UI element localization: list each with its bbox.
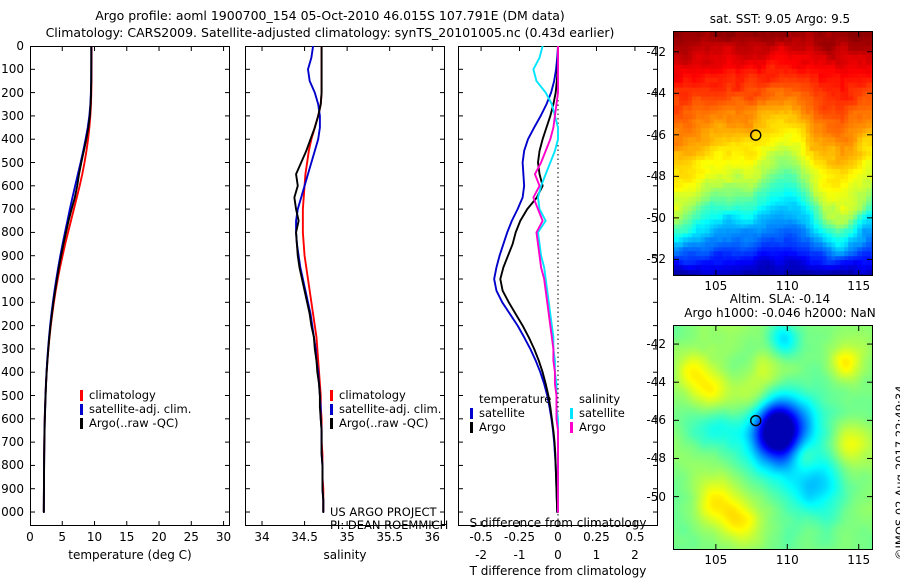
map-lat-tick-label: -46 — [646, 128, 666, 142]
map-lat-tick-label: -42 — [646, 337, 666, 351]
difference-profile-plot — [458, 46, 658, 526]
legend-color-swatch — [80, 390, 83, 401]
map-lat-tick-label: -42 — [646, 45, 666, 59]
axis-tick-label: 0.25 — [583, 530, 610, 544]
axis-tick-label: 10 — [87, 530, 102, 544]
depth-tick-label: 1500 — [0, 389, 24, 403]
temperature-axis-label: temperature (deg C) — [30, 548, 230, 562]
legend-color-swatch — [470, 422, 473, 433]
salinity-profile-plot — [245, 46, 445, 526]
axis-tick-label: 0 — [554, 530, 562, 544]
difference-salinity-axis-label: S difference from climatology — [458, 516, 658, 530]
depth-tick-label: 1600 — [0, 412, 24, 426]
depth-tick-label: 700 — [1, 202, 24, 216]
map-lon-tick-label: 115 — [847, 553, 870, 567]
axis-tick-label: 0 — [26, 530, 34, 544]
depth-tick-label: 1300 — [0, 342, 24, 356]
legend-label: satellite-adj. clim. — [339, 402, 441, 416]
legend-label: satellite — [479, 406, 525, 420]
sla-map-title-line2: Argo h1000: -0.046 h2000: NaN — [660, 306, 900, 320]
map-lat-tick-label: -52 — [646, 252, 666, 266]
legend-heading: temperature — [479, 392, 551, 406]
depth-tick-label: 600 — [1, 179, 24, 193]
project-name: US ARGO PROJECT — [330, 505, 437, 519]
depth-tick-label: 1100 — [0, 295, 24, 309]
depth-tick-label: 1900 — [0, 482, 24, 496]
legend-label: Argo(..raw -QC) — [89, 416, 179, 430]
depth-tick-label: 1700 — [0, 435, 24, 449]
map-lat-tick-label: -50 — [646, 211, 666, 225]
depth-tick-label: 300 — [1, 109, 24, 123]
figure-title-line1: Argo profile: aoml 1900700_154 05-Oct-20… — [0, 8, 660, 23]
depth-tick-label: 0 — [16, 39, 24, 53]
axis-tick-label: 25 — [184, 530, 199, 544]
map-lat-tick-label: -44 — [646, 86, 666, 100]
depth-tick-label: 2000 — [0, 505, 24, 519]
depth-tick-label: 1800 — [0, 458, 24, 472]
legend-color-swatch — [80, 404, 83, 415]
legend-color-swatch — [570, 422, 573, 433]
map-lon-tick-label: 105 — [704, 279, 727, 293]
axis-tick-label: 0 — [554, 548, 562, 562]
legend-color-swatch — [570, 408, 573, 419]
legend-color-swatch — [330, 404, 333, 415]
difference-temperature-axis-label: T difference from climatology — [458, 564, 658, 578]
temperature-profile-plot — [30, 46, 230, 526]
map-lat-tick-label: -48 — [646, 451, 666, 465]
axis-tick-label: 5 — [58, 530, 66, 544]
axis-tick-label: -2 — [475, 548, 487, 562]
axis-tick-label: 35 — [339, 530, 354, 544]
axis-tick-label: 15 — [119, 530, 134, 544]
map-lat-tick-label: -44 — [646, 375, 666, 389]
salinity-axis-label: salinity — [245, 548, 445, 562]
map-lat-tick-label: -50 — [646, 490, 666, 504]
sla-map-title-line1: Altim. SLA: -0.14 — [660, 292, 900, 306]
axis-tick-label: -0.25 — [504, 530, 535, 544]
map-lat-tick-label: -48 — [646, 169, 666, 183]
depth-tick-label: 1400 — [0, 365, 24, 379]
depth-tick-label: 1200 — [0, 319, 24, 333]
axis-tick-label: 34.5 — [291, 530, 318, 544]
axis-tick-label: -0.5 — [469, 530, 492, 544]
map-lon-tick-label: 110 — [776, 279, 799, 293]
legend-label: satellite — [579, 406, 625, 420]
legend-label: Argo(..raw -QC) — [339, 416, 429, 430]
axis-tick-label: 20 — [151, 530, 166, 544]
depth-tick-label: 400 — [1, 132, 24, 146]
project-pi: PI: DEAN ROEMMICH — [330, 518, 448, 532]
legend-label: climatology — [339, 388, 406, 402]
legend-label: Argo — [479, 420, 506, 434]
depth-tick-label: 900 — [1, 249, 24, 263]
map-lon-tick-label: 105 — [704, 553, 727, 567]
depth-tick-label: 1000 — [0, 272, 24, 286]
credit-text: ©IMOS 02-Aug-2017 22:49:34 — [893, 385, 900, 560]
legend-color-swatch — [470, 408, 473, 419]
legend-label: satellite-adj. clim. — [89, 402, 191, 416]
axis-tick-label: 2 — [631, 548, 639, 562]
axis-tick-label: 30 — [216, 530, 231, 544]
legend-label: climatology — [89, 388, 156, 402]
legend-color-swatch — [330, 390, 333, 401]
axis-tick-label: 0.5 — [625, 530, 644, 544]
sla-map-overlay — [673, 325, 873, 550]
axis-tick-label: 34 — [254, 530, 269, 544]
sst-map-overlay — [673, 31, 873, 276]
legend-color-swatch — [330, 418, 333, 429]
map-lon-tick-label: 110 — [776, 553, 799, 567]
depth-tick-label: 200 — [1, 86, 24, 100]
legend-color-swatch — [80, 418, 83, 429]
map-lat-tick-label: -46 — [646, 413, 666, 427]
map-lon-tick-label: 115 — [847, 279, 870, 293]
depth-tick-label: 500 — [1, 156, 24, 170]
depth-tick-label: 800 — [1, 225, 24, 239]
axis-tick-label: -1 — [514, 548, 526, 562]
legend-label: Argo — [579, 420, 606, 434]
axis-tick-label: 36 — [425, 530, 440, 544]
axis-tick-label: 35.5 — [376, 530, 403, 544]
sst-map-title: sat. SST: 9.05 Argo: 9.5 — [660, 12, 900, 26]
axis-tick-label: 1 — [593, 548, 601, 562]
depth-tick-label: 100 — [1, 62, 24, 76]
legend-heading: salinity — [579, 392, 620, 406]
figure-title-line2: Climatology: CARS2009. Satellite-adjuste… — [0, 25, 660, 40]
